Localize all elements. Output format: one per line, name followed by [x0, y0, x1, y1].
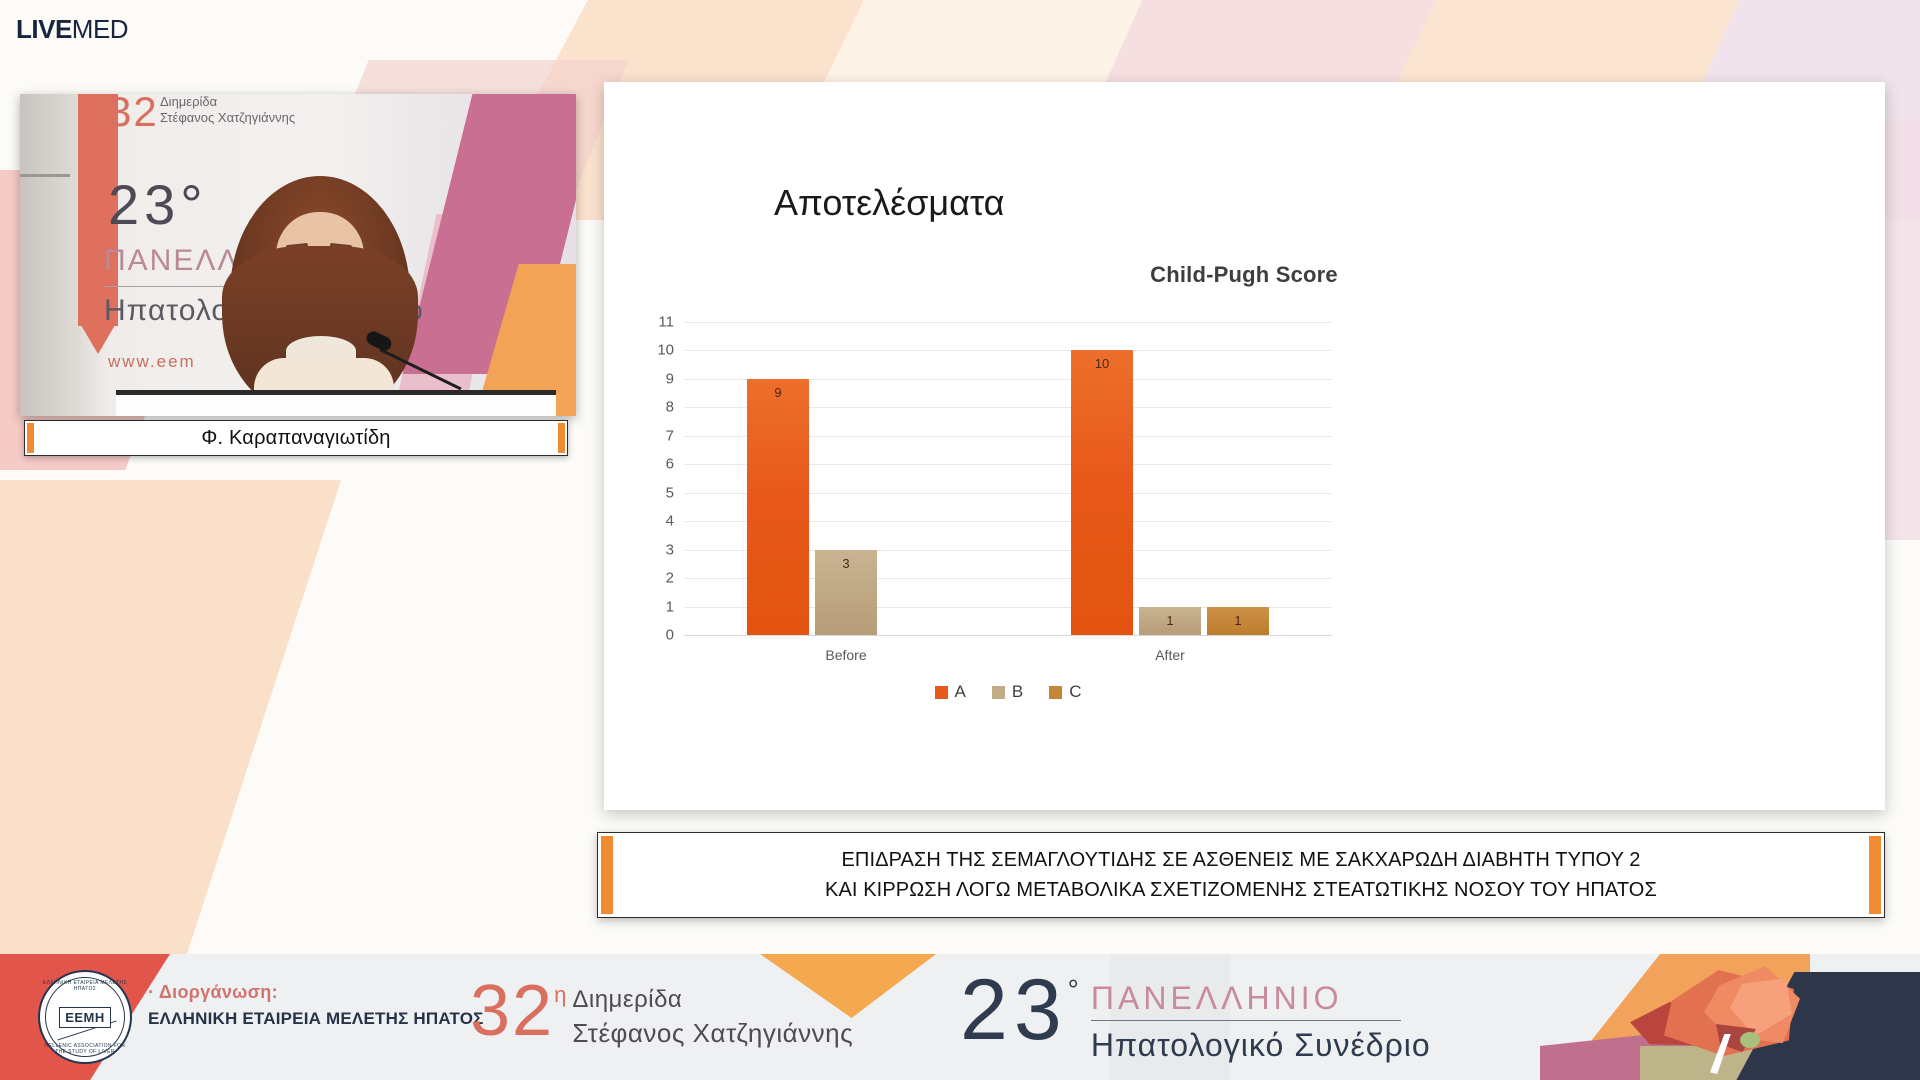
child-pugh-chart: Child-Pugh Score 11109876543210 93Before…: [624, 242, 1864, 802]
presentation-title-line1: ΕΠΙΔΡΑΣΗ ΤΗΣ ΣΕΜΑΓΛΟΥΤΙΔΗΣ ΣΕ ΑΣΘΕΝΕΙΣ Μ…: [841, 845, 1640, 875]
presentation-slide[interactable]: Αποτελέσματα Child-Pugh Score 1110987654…: [604, 82, 1885, 810]
presentation-title-banner: ΕΠΙΔΡΑΣΗ ΤΗΣ ΣΕΜΑΓΛΟΥΤΙΔΗΣ ΣΕ ΑΣΘΕΝΕΙΣ Μ…: [597, 832, 1885, 918]
y-axis-tick: 3: [634, 541, 674, 558]
video-frame: 32 Διημερίδα Στέφανος Χατζηγιάννης 23° Π…: [20, 94, 576, 416]
y-axis-tick: 9: [634, 370, 674, 387]
y-axis-tick: 10: [634, 342, 674, 359]
video-backdrop-edition-line1: Διημερίδα: [160, 94, 295, 110]
video-backdrop-congress-number: 23°: [108, 172, 208, 237]
footer-edition-block: 32 η Διημερίδα Στέφανος Χατζηγιάννης: [470, 972, 853, 1050]
footer-congress-line1: ΠΑΝΕΛΛΗΝΙΟ: [1091, 978, 1431, 1018]
speaker-name-label: Φ. Καραπαναγιωτίδη: [201, 427, 390, 450]
video-backdrop-website: www.eem: [108, 352, 196, 372]
slide-heading: Αποτελέσματα: [774, 182, 1004, 224]
footer-edition-line1: Διημερίδα: [572, 984, 853, 1016]
chart-bar-value: 1: [1166, 613, 1173, 628]
livemed-logo: LIVEMED: [16, 14, 128, 45]
chart-legend-label: A: [955, 682, 966, 702]
chart-legend-swatch: [992, 686, 1005, 699]
footer-organizer-label: · Διοργάνωση:: [148, 982, 484, 1003]
chart-bar: 9: [747, 379, 809, 635]
footer-congress-line2: Ηπατολογικό Συνέδριο: [1091, 1025, 1431, 1065]
chart-legend-swatch: [1049, 686, 1062, 699]
y-axis-tick: 5: [634, 484, 674, 501]
chart-legend-label: B: [1012, 682, 1023, 702]
footer-organizer-name: ΕΛΛΗΝΙΚΗ ΕΤΑΙΡΕΙΑ ΜΕΛΕΤΗΣ ΗΠΑΤΟΣ: [148, 1009, 484, 1029]
chart-gridline: [684, 350, 1332, 351]
footer-edition-suffix: η: [554, 982, 566, 1008]
chart-plot-wrapper: 11109876543210 93Before1011After ABC: [624, 322, 1864, 652]
presentation-title-line2: ΚΑΙ ΚΙΡΡΩΣΗ ΛΟΓΩ ΜΕΤΑΒΟΛΙΚΑ ΣΧΕΤΙΖΟΜΕΝΗΣ…: [825, 875, 1657, 905]
chart-gridline: [684, 635, 1332, 636]
footer-congress-suffix: °: [1068, 974, 1079, 1006]
chart-legend-swatch: [935, 686, 948, 699]
y-axis-tick: 11: [634, 314, 674, 331]
y-axis-tick: 6: [634, 456, 674, 473]
chart-bar-value: 10: [1095, 356, 1109, 371]
liver-logo-icon: [1620, 954, 1840, 1080]
speaker-video-panel[interactable]: 32 Διημερίδα Στέφανος Χατζηγιάννης 23° Π…: [20, 94, 576, 416]
y-axis-tick: 2: [634, 570, 674, 587]
eemh-logo-abbr: EEMH: [59, 1007, 111, 1028]
y-axis-tick: 1: [634, 598, 674, 615]
footer-congress-words: ΠΑΝΕΛΛΗΝΙΟ Ηπατολογικό Συνέδριο: [1091, 978, 1431, 1065]
eemh-logo: ΕΛΛΗΝΙΚΗ ΕΤΑΙΡΕΙΑ ΜΕΛΕΤΗΣ ΗΠΑΤΟΣ EEMH HE…: [38, 970, 132, 1064]
eemh-logo-ring-bottom-text: HELLENIC ASSOCIATION FOR THE STUDY OF LI…: [40, 1043, 130, 1055]
y-axis-tick: 8: [634, 399, 674, 416]
video-backdrop-edition-line2: Στέφανος Χατζηγιάννης: [160, 110, 295, 126]
chart-legend-label: C: [1069, 682, 1081, 702]
video-backdrop-grey-line: [20, 174, 70, 177]
chart-bar-value: 9: [774, 385, 781, 400]
y-axis-tick: 7: [634, 427, 674, 444]
speaker-figure: [230, 176, 410, 416]
footer-edition-number: 32: [470, 972, 554, 1050]
footer-congress-block: 23 ° ΠΑΝΕΛΛΗΝΙΟ Ηπατολογικό Συνέδριο: [960, 964, 1431, 1065]
y-axis-tick: 0: [634, 627, 674, 644]
video-backdrop-edition-text: Διημερίδα Στέφανος Χατζηγιάννης: [160, 94, 295, 126]
footer-edition-line2: Στέφανος Χατζηγιάννης: [572, 1016, 853, 1050]
chart-plot-area: 93Before1011After: [684, 322, 1332, 635]
logo-text-light: MED: [72, 14, 128, 44]
chart-bar: 3: [815, 550, 877, 635]
chart-gridline: [684, 322, 1332, 323]
logo-text-bold: LIVE: [16, 14, 72, 44]
chart-legend-item[interactable]: A: [935, 682, 966, 702]
video-backdrop-column: [20, 94, 82, 416]
footer-congress-divider: [1091, 1020, 1401, 1021]
chart-legend-item[interactable]: B: [992, 682, 1023, 702]
footer-organizer: · Διοργάνωση: ΕΛΛΗΝΙΚΗ ΕΤΑΙΡΕΙΑ ΜΕΛΕΤΗΣ …: [148, 982, 484, 1029]
chart-category-label: After: [1155, 647, 1185, 663]
chart-bar: 10: [1071, 350, 1133, 635]
y-axis-tick: 4: [634, 513, 674, 530]
video-backdrop-edition-number: 32: [108, 94, 159, 136]
speaker-name-bar: Φ. Καραπαναγιωτίδη: [24, 420, 568, 456]
eemh-logo-ring-top-text: ΕΛΛΗΝΙΚΗ ΕΤΑΙΡΕΙΑ ΜΕΛΕΤΗΣ ΗΠΑΤΟΣ: [40, 980, 130, 992]
conference-footer: ΕΛΛΗΝΙΚΗ ΕΤΑΙΡΕΙΑ ΜΕΛΕΤΗΣ ΗΠΑΤΟΣ EEMH HE…: [0, 954, 1920, 1080]
chart-category-label: Before: [825, 647, 866, 663]
chart-bar: 1: [1139, 607, 1201, 635]
chart-bar-value: 1: [1234, 613, 1241, 628]
podium: [116, 390, 556, 416]
chart-bar: 1: [1207, 607, 1269, 635]
footer-edition-words: Διημερίδα Στέφανος Χατζηγιάννης: [572, 984, 853, 1050]
chart-bar-value: 3: [842, 556, 849, 571]
chart-title: Child-Pugh Score: [624, 262, 1864, 288]
chart-y-axis: 11109876543210: [624, 322, 682, 635]
footer-congress-number: 23: [960, 964, 1068, 1056]
chart-legend-item[interactable]: C: [1049, 682, 1081, 702]
chart-legend: ABC: [684, 682, 1332, 702]
liver-gallbladder: [1740, 1032, 1760, 1048]
